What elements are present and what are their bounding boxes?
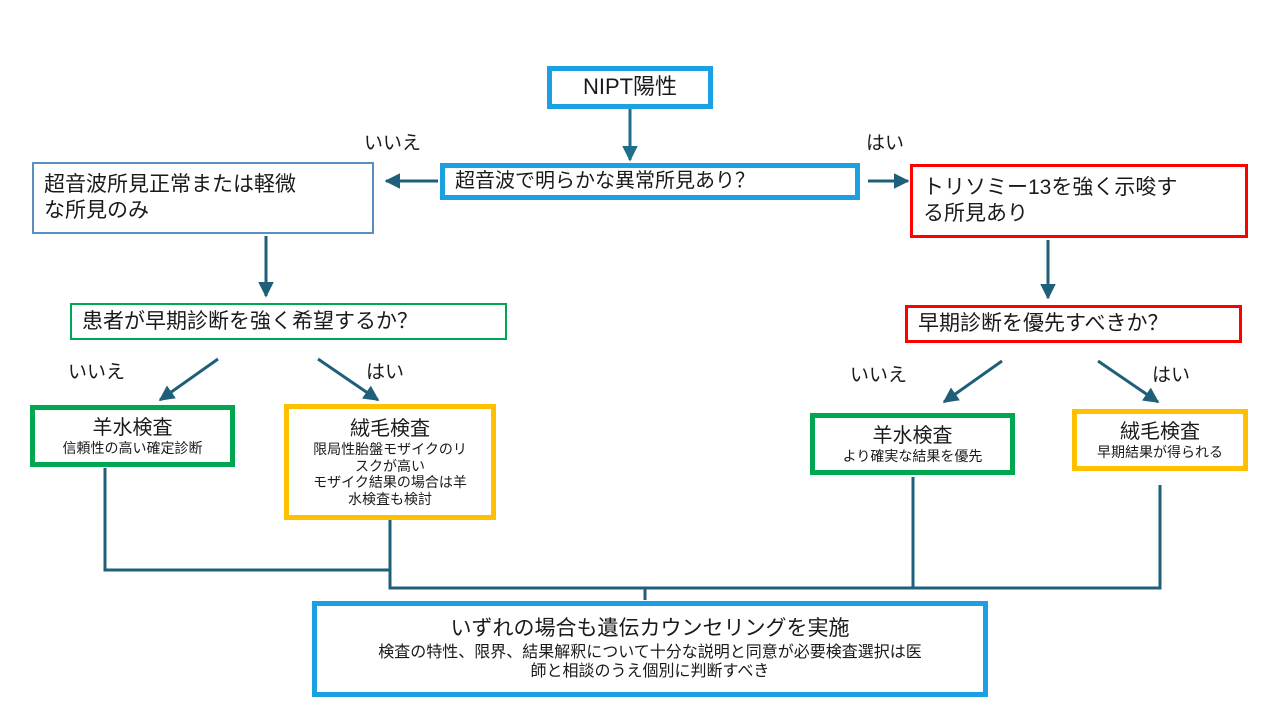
node-counseling-sub-line2: 師と相談のうえ個別に判断すべき [531, 663, 770, 682]
node-trisomy-findings-line2: る所見あり [923, 201, 1028, 227]
node-amnio-right[interactable]: 羊水検査 より確実な結果を優先 [810, 413, 1015, 475]
node-cvs-left-sub-line3: モザイク結果の場合は羊 [313, 474, 467, 491]
node-priority-question-label: 早期診断を優先すべきか？ [918, 311, 1169, 337]
edge-label-priority-yes: はい [1152, 360, 1190, 387]
node-ultrasound-question[interactable]: 超音波で明らかな異常所見あり？ [440, 163, 860, 200]
node-trisomy-findings[interactable]: トリソミー13を強く示唆す る所見あり [910, 164, 1248, 238]
node-cvs-left-sub-line4: 水検査も検討 [348, 491, 432, 508]
node-cvs-right-sub: 早期結果が得られる [1097, 444, 1223, 461]
node-counseling[interactable]: いずれの場合も遺伝カウンセリングを実施 検査の特性、限界、結果解釈について十分な… [312, 601, 988, 697]
edge-label-wish-yes: はい [366, 357, 404, 384]
node-cvs-left-title: 絨毛検査 [350, 417, 430, 441]
node-normal-findings-line1: 超音波所見正常または軽微 [44, 172, 296, 198]
node-normal-findings[interactable]: 超音波所見正常または軽微 な所見のみ [32, 162, 374, 234]
node-patient-wish-question-label: 患者が早期診断を強く希望するか？ [82, 309, 418, 335]
edge-priority-to-cvs [1098, 361, 1158, 402]
node-counseling-sub-line1: 検査の特性、限界、結果解釈について十分な説明と同意が必要検査選択は医 [378, 644, 922, 663]
node-patient-wish-question[interactable]: 患者が早期診断を強く希望するか？ [70, 303, 507, 340]
edge-label-wish-no: いいえ [68, 357, 125, 384]
node-amnio-right-sub: より確実な結果を優先 [843, 448, 983, 465]
edge-cvs-right-to-counseling [645, 485, 1160, 588]
flowchart-canvas: NIPT陽性 超音波で明らかな異常所見あり？ 超音波所見正常または軽微 な所見の… [0, 0, 1280, 720]
node-cvs-left-sub-line2: スクが高い [355, 458, 425, 475]
node-cvs-right-title: 絨毛検査 [1120, 420, 1200, 444]
node-cvs-left[interactable]: 絨毛検査 限局性胎盤モザイクのリ スクが高い モザイク結果の場合は羊 水検査も検… [284, 404, 496, 520]
node-start[interactable]: NIPT陽性 [547, 66, 713, 109]
node-ultrasound-question-label: 超音波で明らかな異常所見あり？ [455, 169, 755, 193]
node-start-label: NIPT陽性 [583, 74, 677, 101]
edge-priority-to-amnio [944, 361, 1002, 402]
node-cvs-left-sub-line1: 限局性胎盤モザイクのリ [313, 441, 467, 458]
node-priority-question[interactable]: 早期診断を優先すべきか？ [905, 305, 1242, 343]
node-amnio-left-sub: 信頼性の高い確定診断 [63, 440, 203, 457]
edge-label-ultrasound-yes: はい [866, 128, 904, 155]
node-amnio-left[interactable]: 羊水検査 信頼性の高い確定診断 [30, 405, 235, 467]
node-trisomy-findings-line1: トリソミー13を強く示唆す [923, 175, 1177, 201]
node-cvs-right[interactable]: 絨毛検査 早期結果が得られる [1072, 409, 1248, 471]
edge-wish-to-amnio [160, 359, 218, 400]
edge-label-ultrasound-no: いいえ [364, 128, 421, 155]
node-amnio-right-title: 羊水検査 [873, 424, 953, 448]
node-amnio-left-title: 羊水検査 [93, 416, 173, 440]
edge-label-priority-no: いいえ [850, 360, 907, 387]
edge-manifold-to-counseling [390, 570, 645, 600]
node-counseling-title: いずれの場合も遺伝カウンセリングを実施 [451, 616, 850, 642]
node-normal-findings-line2: な所見のみ [44, 198, 149, 224]
